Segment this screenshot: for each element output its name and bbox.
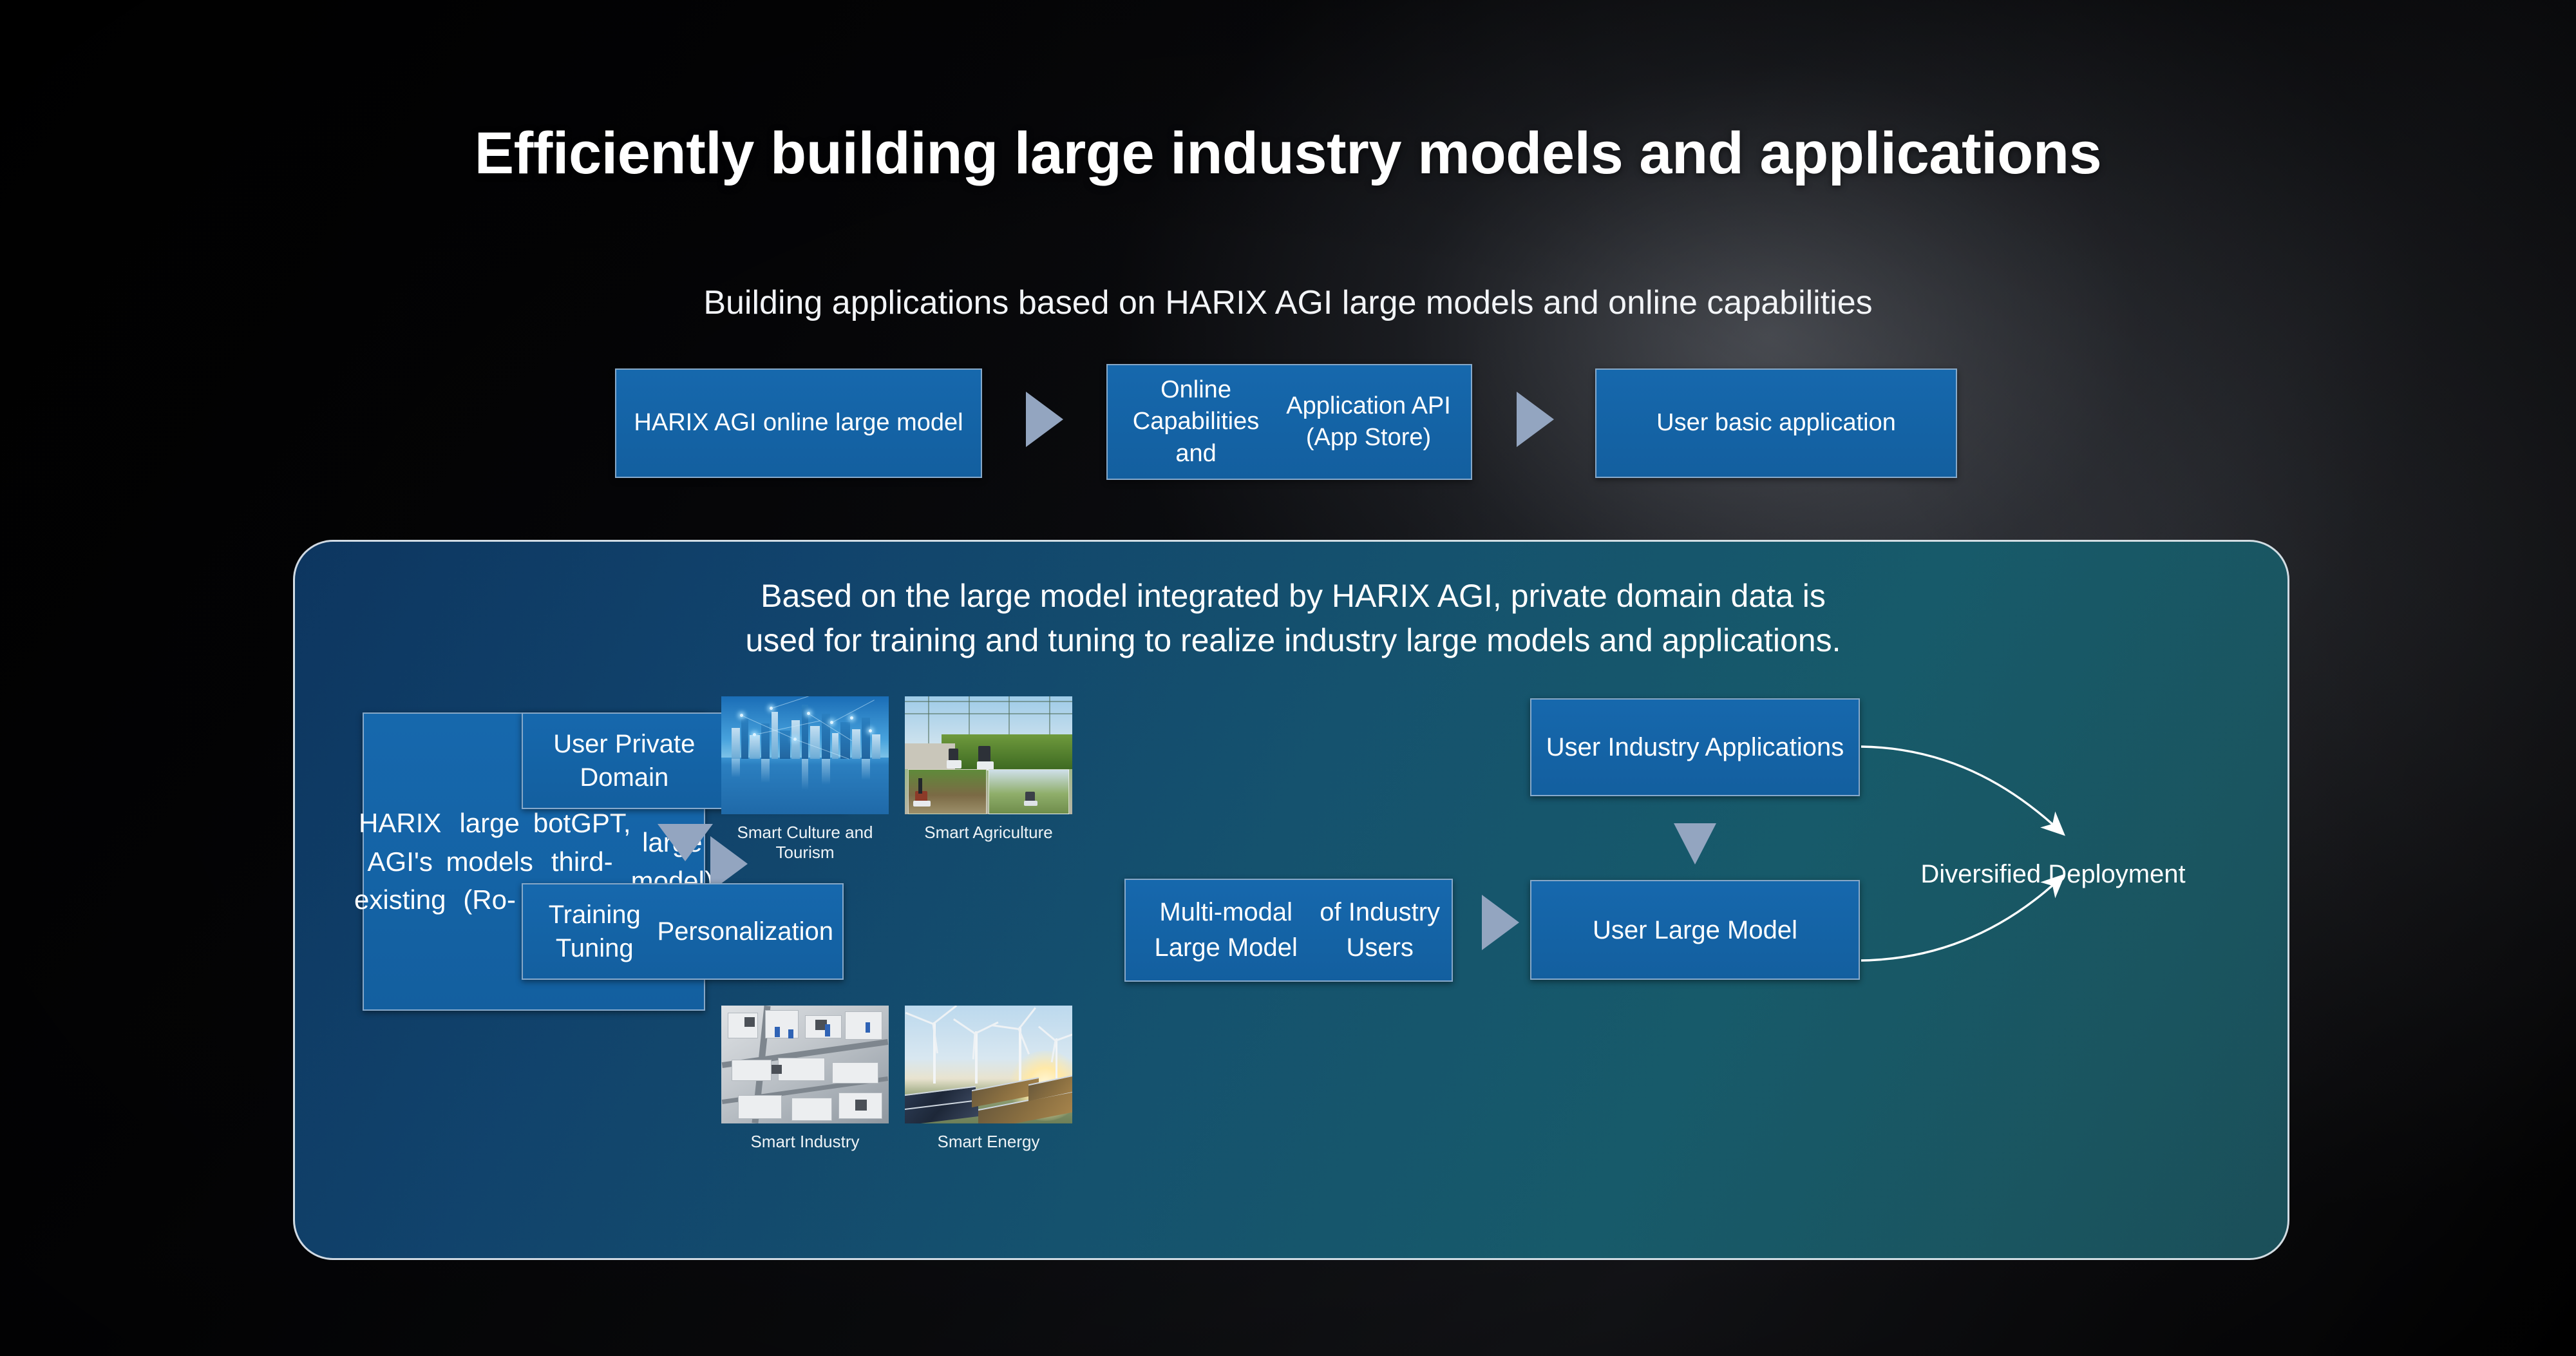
triangle-down-icon: [658, 824, 713, 861]
flow-box-user-basic-application[interactable]: User basic application: [1595, 368, 1957, 478]
box-user-industry-applications[interactable]: User Industry Applications: [1530, 698, 1860, 796]
wind-solar-image: [905, 1006, 1072, 1123]
thumbnail-caption: Smart Culture and Tourism: [708, 823, 902, 863]
thumbnail-smart-industry[interactable]: [721, 1006, 889, 1123]
box-multimodal-large-model-industry-users[interactable]: Multi-modal Large Modelof Industry Users: [1124, 879, 1453, 982]
thumbnail-smart-culture-and-tourism[interactable]: [721, 696, 889, 814]
triangle-down-icon: [1674, 823, 1716, 864]
greenhouse-robot-image: [905, 696, 1072, 814]
box-user-large-model[interactable]: User Large Model: [1530, 880, 1860, 980]
label-diversified-deployment: Diversified Deployment: [1873, 860, 2233, 889]
panel-heading: Based on the large model integrated by H…: [295, 574, 2289, 663]
flow-box-online-large-model[interactable]: HARIX AGI online large model: [615, 368, 982, 478]
page-title: Efficiently building large industry mode…: [0, 120, 2576, 187]
slide-canvas: Efficiently building large industry mode…: [0, 0, 2576, 1356]
thumbnail-caption: Smart Agriculture: [892, 823, 1085, 843]
thumbnail-caption: Smart Energy: [892, 1132, 1085, 1152]
main-diagram-panel: Based on the large model integrated by H…: [293, 540, 2289, 1260]
curved-arrow-icon: [1861, 747, 2062, 833]
triangle-right-icon: [1482, 895, 1519, 950]
flow-box-online-capabilities-api[interactable]: Online Capabilities andApplication API (…: [1106, 364, 1472, 480]
triangle-right-icon: [1026, 392, 1063, 447]
page-subtitle: Building applications based on HARIX AGI…: [0, 283, 2576, 322]
curved-arrow-icon: [1861, 877, 2062, 960]
thumbnail-caption: Smart Industry: [708, 1132, 902, 1152]
triangle-right-icon: [1517, 392, 1554, 447]
panel-heading-line1: Based on the large model integrated by H…: [295, 574, 2289, 618]
aerial-factory-image: [721, 1006, 889, 1123]
panel-heading-line2: used for training and tuning to realize …: [295, 618, 2289, 663]
smart-city-network-image: [721, 696, 889, 814]
box-training-tuning-personalization[interactable]: Training TuningPersonalization: [522, 883, 844, 980]
thumbnail-smart-energy[interactable]: [905, 1006, 1072, 1123]
thumbnail-smart-agriculture[interactable]: [905, 696, 1072, 814]
